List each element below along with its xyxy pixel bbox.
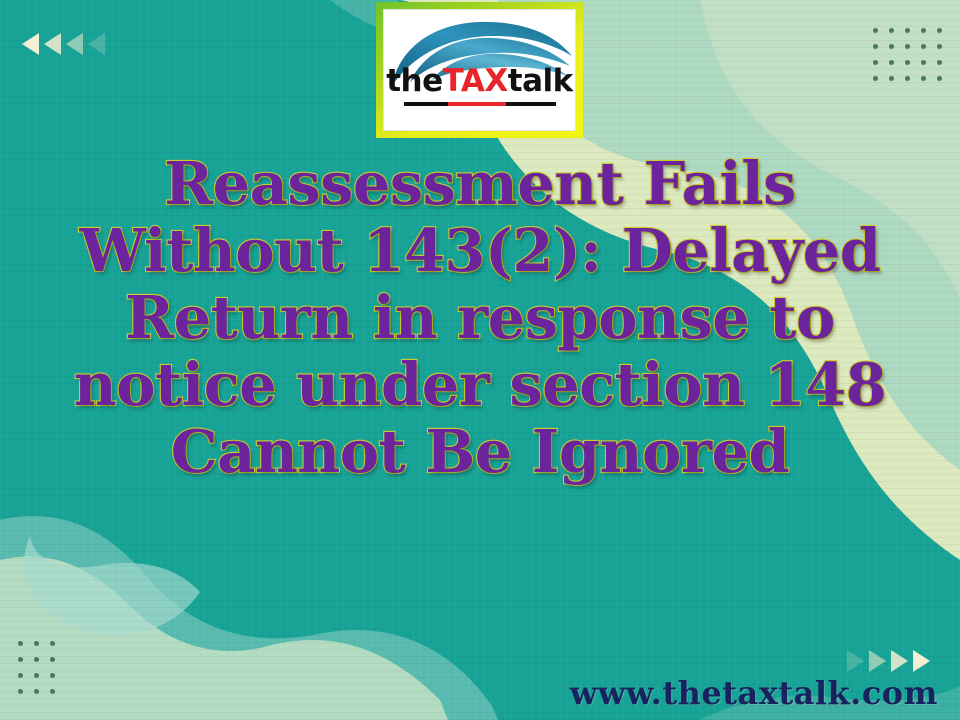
dot (937, 28, 942, 33)
underline-segment-talk (506, 102, 556, 106)
dot (921, 28, 926, 33)
dot (905, 60, 910, 65)
dot (50, 657, 55, 662)
dot (18, 673, 23, 678)
brand-text-the: the (386, 63, 442, 99)
page-title: Reassessment Fails Without 143(2): Delay… (0, 150, 960, 485)
dot (873, 44, 878, 49)
arrow-cluster-right (847, 650, 930, 672)
dot (921, 60, 926, 65)
underline-segment-tax (448, 102, 506, 106)
dot (34, 673, 39, 678)
dot (889, 76, 894, 81)
title-line-2: Without 143(2): Delayed (0, 217, 960, 284)
brand-underline (404, 102, 556, 106)
brand-text-tax: TAX (443, 63, 508, 99)
arrow-cluster-left (22, 33, 105, 55)
dot (34, 657, 39, 662)
dot (937, 76, 942, 81)
shape-bottom-left-pale (0, 557, 448, 720)
underline-segment-the (404, 102, 448, 106)
dot (873, 76, 878, 81)
brand-text-talk: talk (508, 63, 573, 99)
dot (905, 28, 910, 33)
dot (34, 689, 39, 694)
title-line-4: notice under section 148 (0, 351, 960, 418)
dot (905, 76, 910, 81)
triangle-left-icon (44, 33, 61, 55)
title-line-1: Reassessment Fails (0, 150, 960, 217)
brand-wordmark: theTAXtalk (384, 66, 575, 97)
triangle-right-icon (847, 650, 864, 672)
shape-bottom-left-cap (24, 536, 200, 635)
brand-logo-inner: theTAXtalk (383, 9, 576, 131)
dot (50, 689, 55, 694)
brand-logo-card[interactable]: theTAXtalk (376, 2, 583, 138)
website-url[interactable]: www.thetaxtalk.com (570, 674, 938, 712)
shape-bottom-left-teal (0, 516, 498, 720)
dot (889, 28, 894, 33)
title-line-5: Cannot Be Ignored (0, 418, 960, 485)
triangle-right-icon (869, 650, 886, 672)
triangle-left-icon (88, 33, 105, 55)
triangle-left-icon (66, 33, 83, 55)
dot (873, 28, 878, 33)
dot (18, 657, 23, 662)
dot (905, 44, 910, 49)
dot (873, 60, 878, 65)
dot (937, 60, 942, 65)
dot-grid-top-right (873, 28, 942, 81)
dot (937, 44, 942, 49)
triangle-left-icon (22, 33, 39, 55)
dot (921, 44, 926, 49)
dot (889, 60, 894, 65)
title-line-3: Return in response to (0, 284, 960, 351)
dot (889, 44, 894, 49)
dot (34, 641, 39, 646)
dot (50, 673, 55, 678)
dot-grid-bottom-left (18, 641, 55, 694)
dot (50, 641, 55, 646)
dot (18, 689, 23, 694)
poster-canvas: theTAXtalk Reassessment Fails Without 14… (0, 0, 960, 720)
triangle-right-icon (913, 650, 930, 672)
dot (921, 76, 926, 81)
dot (18, 641, 23, 646)
triangle-right-icon (891, 650, 908, 672)
